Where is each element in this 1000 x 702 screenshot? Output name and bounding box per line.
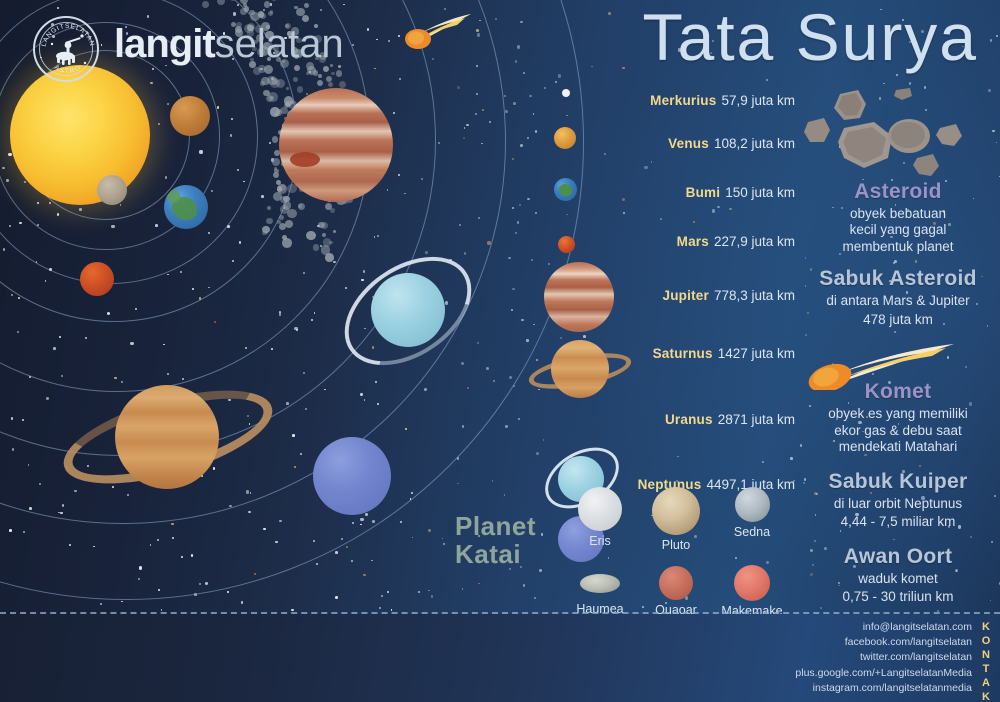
diagram-earth: [164, 185, 208, 229]
oort-cloud-block: Awan Oort waduk komet 0,75 - 30 triliun …: [800, 545, 996, 606]
oort-cloud-line1: waduk komet: [800, 571, 996, 587]
page-title: Tata Surya: [643, 4, 979, 70]
comet-icon: [800, 342, 996, 386]
makemake-icon: [734, 565, 770, 601]
diagram-jupiter: [279, 88, 393, 202]
planet-distance: 1427 juta km: [718, 346, 795, 361]
planet-distance: 227,9 juta km: [714, 234, 795, 249]
asteroid-heading: Asteroid: [800, 180, 996, 204]
footer-divider: [0, 612, 1000, 614]
diagram-neptune: [313, 437, 391, 515]
contact-email[interactable]: info@langitselatan.com: [795, 620, 972, 635]
planet-name: Venus: [668, 136, 709, 151]
kontak-vertical-label: KONTAK: [978, 620, 994, 702]
brand-light: selatan: [215, 22, 344, 66]
planet-row: Uranus2871 juta km: [540, 383, 795, 455]
planet-distance: 2871 juta km: [718, 412, 795, 427]
planet-distance: 108,2 juta km: [714, 136, 795, 151]
brand-bold: langit: [114, 22, 215, 66]
asteroid-block: Asteroid obyek bebatuan kecil yang gagal…: [800, 180, 996, 255]
dwarf-planet-label: Sedna: [714, 525, 790, 539]
kuiper-belt-heading: Sabuk Kuiper: [800, 470, 996, 494]
pluto-icon: [652, 487, 700, 535]
dwarf-planet-label: Eris: [562, 534, 638, 548]
comet-block: Komet obyek es yang memiliki ekor gas & …: [800, 380, 996, 455]
contact-google-plus[interactable]: plus.google.com/+LangitselatanMedia: [795, 666, 972, 681]
dwarf-planet-sedna: Sedna: [714, 487, 790, 552]
planet-row: Jupiter778,3 juta km: [540, 267, 795, 323]
eris-icon: [578, 487, 622, 531]
comet-description: obyek es yang memiliki ekor gas & debu s…: [800, 406, 996, 455]
planet-row: Mars227,9 juta km: [540, 215, 795, 267]
asteroid-belt-line1: di antara Mars & Jupiter: [800, 293, 996, 309]
contact-twitter[interactable]: twitter.com/langitselatan: [795, 650, 972, 665]
dwarf-title-line1: Planet: [455, 512, 536, 540]
kuiper-belt-line2: 4,44 - 7,5 miliar km: [800, 514, 996, 530]
planet-name: Uranus: [665, 412, 713, 427]
contact-list: info@langitselatan.com facebook.com/lang…: [795, 620, 972, 696]
svg-text:ASTRO: ASTRO: [53, 64, 83, 75]
diagram-saturn: [115, 385, 219, 489]
diagram-uranus: [371, 273, 445, 347]
planet-row: Merkurius57,9 juta km: [540, 84, 795, 116]
langitselatan-logo[interactable]: LANGITSELATAN ASTRO: [33, 16, 99, 82]
planet-distance: 57,9 juta km: [721, 93, 795, 108]
dwarf-planet-haumea: Haumea: [562, 562, 638, 618]
kuiper-belt-line1: di luar orbit Neptunus: [800, 496, 996, 512]
planet-distance: 778,3 juta km: [714, 288, 795, 303]
dwarf-planet-eris: Eris: [562, 487, 638, 552]
sun: [10, 65, 150, 205]
dwarf-row: Haumea Quaoar Makemake: [562, 562, 792, 618]
asteroid-cluster-icon: [800, 88, 996, 180]
dwarf-title-line2: Katai: [455, 540, 536, 568]
planet-row: Bumi150 juta km: [540, 170, 795, 215]
planet-row: Saturnus1427 juta km: [540, 323, 795, 383]
diagram-mars: [80, 262, 114, 296]
asteroid-belt-block: Sabuk Asteroid di antara Mars & Jupiter …: [800, 267, 996, 328]
dwarf-row: Eris Pluto Sedna: [562, 487, 792, 552]
dwarf-planet-quaoar: Quaoar: [638, 562, 714, 618]
planet-name: Merkurius: [650, 93, 716, 108]
diagram-mercury: [97, 175, 127, 205]
planet-row: Venus108,2 juta km: [540, 116, 795, 170]
dwarf-planets-title: Planet Katai: [455, 512, 536, 568]
info-column: Asteroid obyek bebatuan kecil yang gagal…: [800, 88, 996, 614]
brand-wordmark: langitselatan: [114, 24, 344, 64]
dwarf-planet-makemake: Makemake: [714, 562, 790, 618]
dwarf-planets-grid: Eris Pluto Sedna Haumea Quaoar Make: [562, 487, 792, 618]
planet-distance: 150 juta km: [725, 185, 795, 200]
oort-cloud-line2: 0,75 - 30 triliun km: [800, 589, 996, 605]
diagram-venus: [170, 96, 210, 136]
asteroid-description: obyek bebatuan kecil yang gagal membentu…: [800, 206, 996, 255]
planet-distance-list: Merkurius57,9 juta km Venus108,2 juta km…: [540, 84, 795, 513]
planet-name: Mars: [677, 234, 709, 249]
planet-name: Bumi: [686, 185, 721, 200]
diagram-comet-icon: [405, 10, 475, 54]
contact-facebook[interactable]: facebook.com/langitselatan: [795, 635, 972, 650]
contact-instagram[interactable]: instagram.com/langitselatanmedia: [795, 681, 972, 696]
asteroid-belt-heading: Sabuk Asteroid: [800, 267, 996, 291]
dwarf-planet-pluto: Pluto: [638, 487, 714, 552]
planet-name: Saturnus: [653, 346, 713, 361]
kuiper-belt-block: Sabuk Kuiper di luar orbit Neptunus 4,44…: [800, 470, 996, 531]
quaoar-icon: [659, 566, 693, 600]
solar-system-infographic: Tata Surya Merkurius57,9 juta km Venus10…: [0, 0, 1000, 702]
sedna-icon: [735, 487, 770, 522]
dwarf-planet-label: Pluto: [638, 538, 714, 552]
asteroid-belt-line2: 478 juta km: [800, 312, 996, 328]
oort-cloud-heading: Awan Oort: [800, 545, 996, 569]
planet-name: Jupiter: [663, 288, 709, 303]
haumea-icon: [580, 574, 620, 593]
